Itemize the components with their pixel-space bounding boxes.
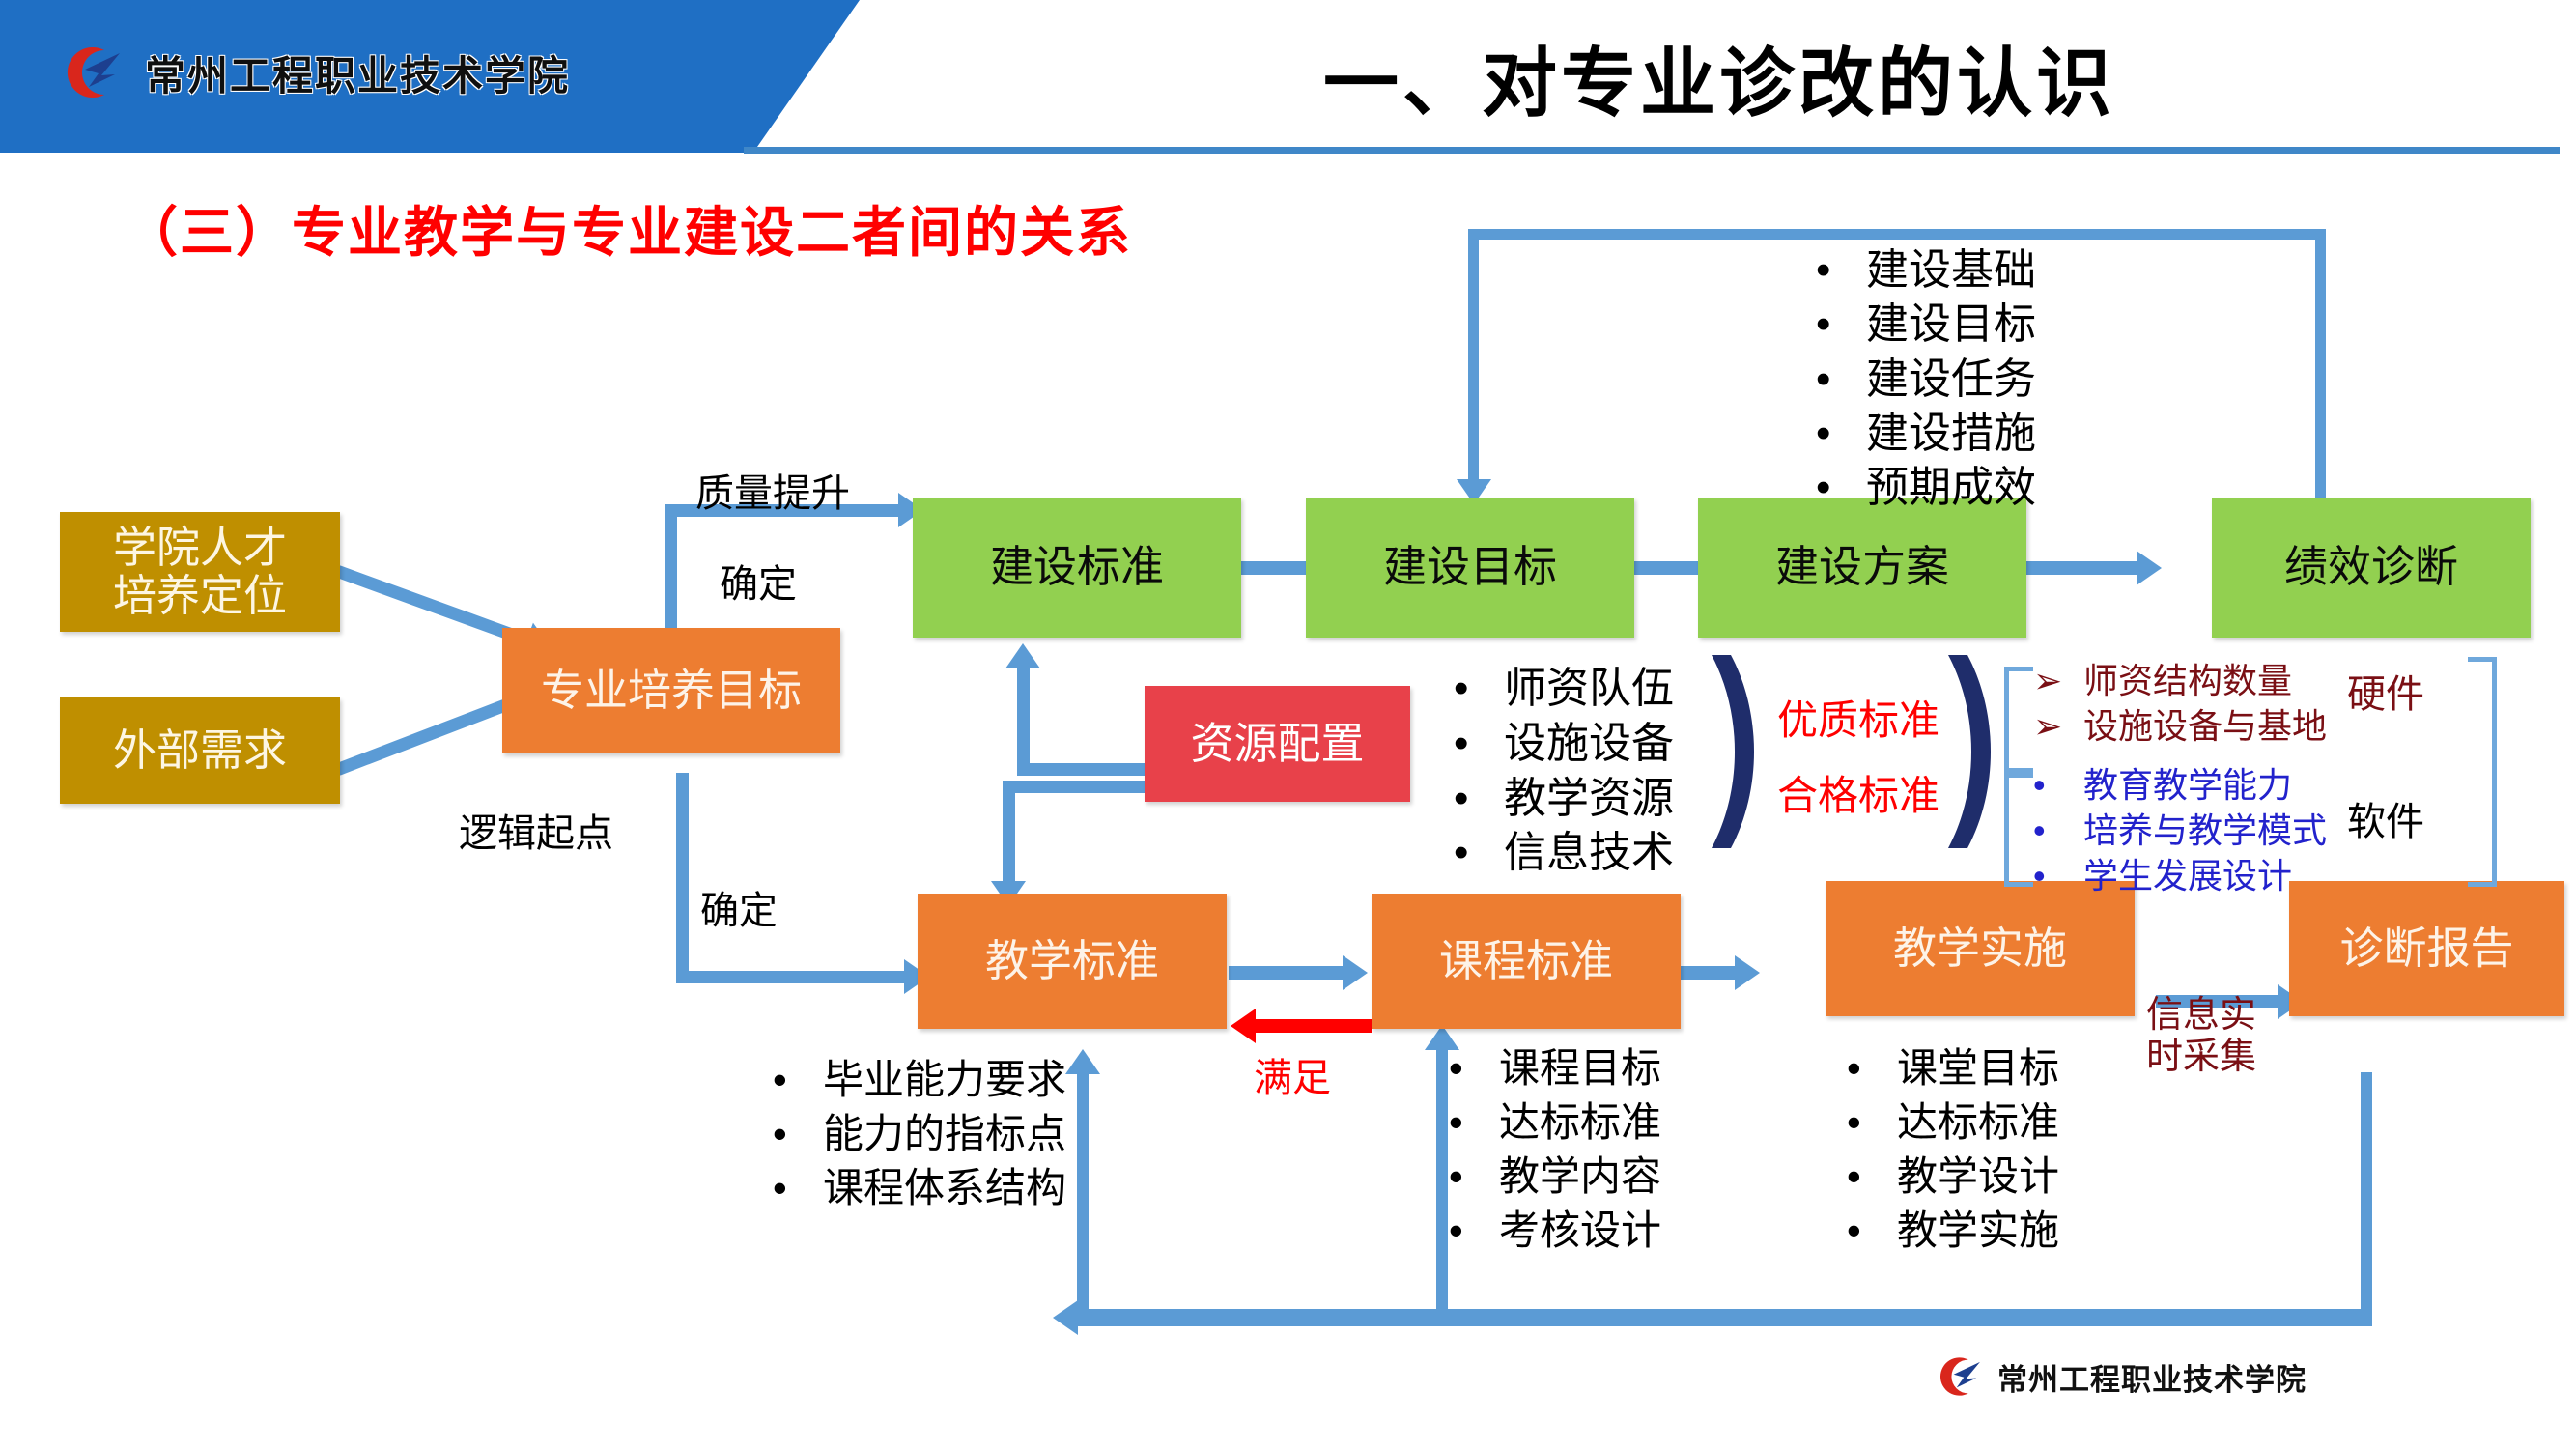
node-diagnosis-report[interactable]: 诊断报告 <box>2289 881 2564 1016</box>
footer-logo: 常州工程职业技术学院 <box>1932 1352 2307 1401</box>
list-item-label: 师资结构数量 <box>2083 659 2292 704</box>
list-item-label: 教学资源 <box>1504 772 1674 827</box>
list-item: •师资队伍 <box>1454 662 1674 717</box>
edge-bottom-loop-to-teach-standard-arrowhead <box>1065 1049 1100 1074</box>
node-perf-diagnosis[interactable]: 绩效诊断 <box>2212 498 2531 638</box>
edge-bottom-loop-right-stem <box>2361 1072 2372 1320</box>
list-item: •建设目标 <box>1816 298 2036 352</box>
list-item: •教育教学能力 <box>2033 763 2327 809</box>
label-qualified-standard: 合格标准 <box>1777 763 1939 822</box>
header-logo-text: 常州工程职业技术学院 <box>145 43 570 102</box>
node-input-bottom[interactable]: 外部需求 <box>60 697 340 804</box>
bullet-icon: • <box>1454 662 1504 717</box>
bullet-icon: • <box>1449 1095 1499 1150</box>
list-item: •考核设计 <box>1449 1204 1661 1258</box>
list-item: •建设任务 <box>1816 353 2036 407</box>
institute-logo-icon <box>56 41 127 104</box>
list-item: •毕业能力要求 <box>773 1053 1066 1107</box>
edge-resource-up-horiz <box>1017 763 1157 776</box>
bullet-icon: • <box>1816 461 1866 515</box>
list-item-label: 建设任务 <box>1866 353 2036 407</box>
bullet-icon: • <box>773 1161 823 1215</box>
bullet-icon: • <box>2033 763 2083 809</box>
list-item-label: 教学内容 <box>1499 1150 1661 1204</box>
list-item-label: 考核设计 <box>1499 1204 1661 1258</box>
edge-ts-to-cs-arrowhead <box>1343 955 1368 990</box>
list-build-plan-items: •建设基础 •建设目标 •建设任务 •建设措施 •预期成效 <box>1816 243 2036 516</box>
list-item-label: 能力的指标点 <box>823 1107 1066 1161</box>
list-item: •达标标准 <box>1449 1095 1661 1150</box>
arrow-bullet-icon: ➢ <box>2033 704 2083 750</box>
list-item: •课堂目标 <box>1847 1041 2059 1095</box>
edge-resource-down-stem <box>1003 781 1015 887</box>
node-course-standard[interactable]: 课程标准 <box>1372 894 1681 1029</box>
list-item: •教学设计 <box>1847 1150 2059 1204</box>
arrow-bullet-icon: ➢ <box>2033 659 2083 704</box>
list-hardware-items: ➢师资结构数量 ➢设施设备与基地 <box>2033 659 2327 750</box>
list-item-label: 教学实施 <box>1897 1204 2059 1258</box>
list-item-label: 学生发展设计 <box>2083 854 2292 899</box>
node-build-standard[interactable]: 建设标准 <box>913 498 1241 638</box>
edge-bp-to-pd <box>2025 561 2141 575</box>
node-build-goal[interactable]: 建设目标 <box>1306 498 1634 638</box>
bullet-icon: • <box>1816 353 1866 407</box>
list-item-label: 设施设备与基地 <box>2083 704 2327 750</box>
bullet-icon: • <box>1449 1041 1499 1095</box>
edge-feedback-top-horiz <box>1468 229 2326 240</box>
edge-bottom-loop-to-course-standard-stem <box>1436 1048 1448 1314</box>
list-item-label: 课程体系结构 <box>823 1161 1066 1215</box>
list-item: •能力的指标点 <box>773 1107 1066 1161</box>
bullet-icon: • <box>1847 1095 1897 1150</box>
edge-goal-down-horiz <box>676 971 908 983</box>
label-quality-improve: 质量提升 <box>695 462 850 518</box>
node-input-top[interactable]: 学院人才 培养定位 <box>60 512 340 632</box>
node-teach-standard[interactable]: 教学标准 <box>918 894 1227 1029</box>
bullet-icon: • <box>1449 1204 1499 1258</box>
bullet-icon: • <box>773 1053 823 1107</box>
list-teach-impl-items: •课堂目标 •达标标准 •教学设计 •教学实施 <box>1847 1041 2059 1257</box>
list-item-label: 教育教学能力 <box>2083 763 2292 809</box>
bullet-icon: • <box>773 1107 823 1161</box>
bullet-icon: • <box>2033 809 2083 854</box>
list-item: •课程体系结构 <box>773 1161 1066 1215</box>
edge-bottom-loop-horiz <box>1077 1309 2372 1326</box>
bracket-right-outer <box>2468 657 2497 887</box>
edge-goal-down-stem <box>676 773 689 983</box>
footer-logo-text: 常州工程职业技术学院 <box>1997 1355 2307 1399</box>
section-subtitle: （三）专业教学与专业建设二者间的关系 <box>124 189 1132 268</box>
list-course-standard-items: •课程目标 •达标标准 •教学内容 •考核设计 <box>1449 1041 1661 1257</box>
list-item-label: 达标标准 <box>1499 1095 1661 1150</box>
edge-bottom-loop-to-teach-standard-stem <box>1077 1072 1089 1314</box>
bullet-icon: • <box>1454 717 1504 772</box>
list-software-items: •教育教学能力 •培养与教学模式 •学生发展设计 <box>2033 763 2327 898</box>
bullet-icon: • <box>1816 298 1866 352</box>
edge-goal-up-stem <box>665 504 677 632</box>
edge-bp-to-pd-arrowhead <box>2137 551 2162 585</box>
edge-resource-up-stem <box>1017 667 1030 773</box>
node-resource-allocation[interactable]: 资源配置 <box>1145 686 1410 802</box>
chevron-right-icon <box>1946 655 2004 853</box>
header-logo: 常州工程职业技术学院 <box>56 41 570 104</box>
edge-feedback-top-left-stem <box>1468 229 1479 485</box>
edge-ts-to-cs <box>1229 966 1346 980</box>
bracket-hardware <box>2004 667 2033 773</box>
edge-cs-to-ts-arrowhead <box>1231 1009 1256 1043</box>
list-item: •教学内容 <box>1449 1150 1661 1204</box>
bullet-icon: • <box>1449 1150 1499 1204</box>
page-title: 一、对专业诊改的认识 <box>898 23 2540 131</box>
list-item-label: 课程目标 <box>1499 1041 1661 1095</box>
node-teach-implementation[interactable]: 教学实施 <box>1826 881 2135 1016</box>
list-item: •设施设备 <box>1454 717 1674 772</box>
label-logic-start: 逻辑起点 <box>459 802 613 858</box>
list-item: •信息技术 <box>1454 826 1674 881</box>
label-satisfy: 满足 <box>1254 1046 1331 1102</box>
list-item-label: 信息技术 <box>1504 826 1674 881</box>
bullet-icon: • <box>1454 772 1504 827</box>
header-rule <box>744 147 2560 154</box>
list-item-label: 建设目标 <box>1866 298 2036 352</box>
bullet-icon: • <box>1847 1150 1897 1204</box>
node-build-plan[interactable]: 建设方案 <box>1698 498 2026 638</box>
list-item-label: 课堂目标 <box>1897 1041 2059 1095</box>
list-item-label: 预期成效 <box>1866 461 2036 515</box>
list-item: ➢师资结构数量 <box>2033 659 2327 704</box>
list-item-label: 达标标准 <box>1897 1095 2059 1150</box>
edge-cs-to-ts-satisfy <box>1256 1019 1372 1033</box>
list-teach-standard-items: •毕业能力要求 •能力的指标点 •课程体系结构 <box>773 1053 1066 1215</box>
institute-logo-icon <box>1932 1352 1986 1401</box>
node-major-goal[interactable]: 专业培养目标 <box>502 628 840 753</box>
list-item: •培养与教学模式 <box>2033 809 2327 854</box>
list-item: •建设基础 <box>1816 243 2036 298</box>
list-resource-items: •师资队伍 •设施设备 •教学资源 •信息技术 <box>1454 662 1674 881</box>
edge-cs-to-ti-arrowhead <box>1735 955 1760 990</box>
header-slant <box>676 0 860 153</box>
list-item-label: 教学设计 <box>1897 1150 2059 1204</box>
list-item: ➢设施设备与基地 <box>2033 704 2327 750</box>
list-item-label: 设施设备 <box>1504 717 1674 772</box>
label-software: 软件 <box>2347 790 2424 846</box>
edge-feedback-top-right-stem <box>2315 229 2326 509</box>
bullet-icon: • <box>2033 854 2083 899</box>
list-item-label: 毕业能力要求 <box>823 1053 1066 1107</box>
bracket-software <box>2004 773 2033 887</box>
bullet-icon: • <box>1847 1204 1897 1258</box>
bullet-icon: • <box>1847 1041 1897 1095</box>
list-item: •预期成效 <box>1816 461 2036 515</box>
label-premium-standard: 优质标准 <box>1777 688 1939 747</box>
list-item: •课程目标 <box>1449 1041 1661 1095</box>
list-item-label: 培养与教学模式 <box>2083 809 2327 854</box>
list-item-label: 建设基础 <box>1866 243 2036 298</box>
edge-resource-to-build-standard-arrowhead <box>1005 643 1040 668</box>
bullet-icon: • <box>1454 826 1504 881</box>
list-item: •建设措施 <box>1816 407 2036 461</box>
bullet-icon: • <box>1816 243 1866 298</box>
chevron-left-icon <box>1710 655 1768 853</box>
list-item: •达标标准 <box>1847 1095 2059 1150</box>
list-item-label: 建设措施 <box>1866 407 2036 461</box>
label-realtime-collection: 信息实 时采集 <box>2146 995 2256 1077</box>
list-item: •教学实施 <box>1847 1204 2059 1258</box>
list-item-label: 师资队伍 <box>1504 662 1674 717</box>
slide-root: 常州工程职业技术学院 一、对专业诊改的认识 （三）专业教学与专业建设二者间的关系 <box>0 0 2576 1450</box>
bullet-icon: • <box>1816 407 1866 461</box>
label-hardware: 硬件 <box>2347 663 2424 719</box>
label-determine-top: 确定 <box>720 553 797 609</box>
edge-resource-down-horiz <box>1003 781 1157 793</box>
label-determine-bottom: 确定 <box>700 879 778 935</box>
list-item: •学生发展设计 <box>2033 854 2327 899</box>
list-item: •教学资源 <box>1454 772 1674 827</box>
edge-bottom-loop-arrowhead <box>1053 1300 1078 1335</box>
